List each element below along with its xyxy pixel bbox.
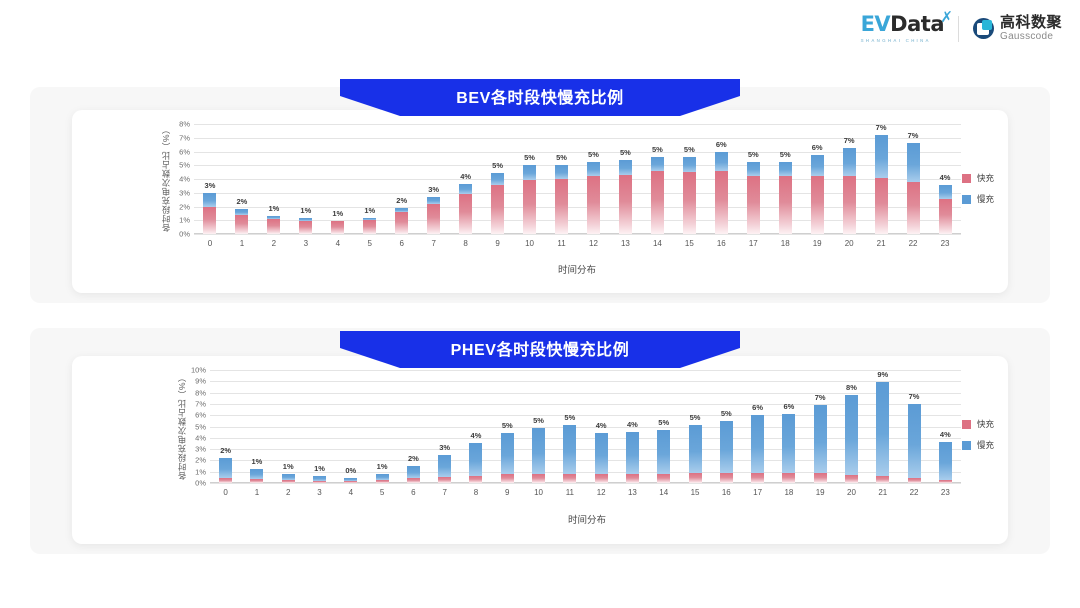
bar-segment-fast-charge[interactable] xyxy=(532,474,545,483)
bar-segment-slow-charge[interactable] xyxy=(747,162,760,176)
y-axis-tick-label: 4% xyxy=(195,433,206,442)
bar-segment-slow-charge[interactable] xyxy=(555,165,568,179)
bar-segment-fast-charge[interactable] xyxy=(587,176,600,234)
bar-value-label: 2% xyxy=(408,454,419,463)
bar-stack[interactable] xyxy=(907,124,920,234)
x-axis-tick-label: 15 xyxy=(691,488,700,497)
bar-segment-fast-charge[interactable] xyxy=(939,480,952,483)
bar-stack[interactable] xyxy=(235,124,248,234)
header-logos: EVData ✗ SHANGHAI CHINA 高科数聚 Gausscode xyxy=(861,14,1062,43)
bar-value-label: 5% xyxy=(524,153,535,162)
bar-segment-fast-charge[interactable] xyxy=(683,172,696,234)
y-axis-tick-label: 2% xyxy=(195,456,206,465)
chart-bev: 各时段充电次数占比（%）0%1%2%3%4%5%6%7%8%3%02%11%21… xyxy=(72,110,1008,293)
bar-segment-fast-charge[interactable] xyxy=(395,212,408,234)
x-axis-tick-label: 0 xyxy=(223,488,227,497)
x-axis-tick-label: 21 xyxy=(877,239,886,248)
y-axis-tick-label: 3% xyxy=(179,188,190,197)
bar-segment-fast-charge[interactable] xyxy=(282,480,295,483)
x-axis-tick-label: 7 xyxy=(442,488,446,497)
bar-value-label: 6% xyxy=(752,403,763,412)
bar-stack[interactable] xyxy=(875,124,888,234)
bar-value-label: 3% xyxy=(428,185,439,194)
x-axis-tick-label: 23 xyxy=(941,488,950,497)
legend-item-slow-charge[interactable]: 慢充 xyxy=(962,193,994,205)
bar-segment-slow-charge[interactable] xyxy=(619,160,632,174)
bar-value-label: 1% xyxy=(332,209,343,218)
bar-value-label: 5% xyxy=(492,161,503,170)
bar-segment-fast-charge[interactable] xyxy=(267,219,280,234)
bar-segment-fast-charge[interactable] xyxy=(555,179,568,234)
plot-area: 0%1%2%3%4%5%6%7%8%3%02%11%21%31%41%52%63… xyxy=(194,124,961,234)
y-axis-title: 各时段充电次数占比（%） xyxy=(176,368,188,484)
legend-item-fast-charge[interactable]: 快充 xyxy=(962,172,994,184)
bar-segment-fast-charge[interactable] xyxy=(657,474,670,483)
bar-segment-slow-charge[interactable] xyxy=(595,433,608,474)
x-axis-tick-label: 19 xyxy=(816,488,825,497)
evdata-x-icon: ✗ xyxy=(940,10,953,25)
x-axis-tick-label: 17 xyxy=(749,239,758,248)
bar-value-label: 4% xyxy=(596,421,607,430)
legend-label: 快充 xyxy=(977,418,994,430)
bar-segment-slow-charge[interactable] xyxy=(683,157,696,172)
bar-value-label: 2% xyxy=(237,197,248,206)
chart-title-banner-bev: BEV各时段快慢充比例 xyxy=(340,79,740,116)
bar-segment-slow-charge[interactable] xyxy=(875,135,888,178)
bar-segment-slow-charge[interactable] xyxy=(203,193,216,207)
bar-segment-slow-charge[interactable] xyxy=(720,421,733,473)
panel-bev: 各时段充电次数占比（%）0%1%2%3%4%5%6%7%8%3%02%11%21… xyxy=(30,87,1050,303)
bar-stack[interactable] xyxy=(407,370,420,483)
bar-stack[interactable] xyxy=(683,124,696,234)
bar-segment-slow-charge[interactable] xyxy=(501,433,514,474)
bar-segment-fast-charge[interactable] xyxy=(491,185,504,234)
bar-segment-fast-charge[interactable] xyxy=(689,473,702,483)
bar-value-label: 7% xyxy=(844,136,855,145)
bar-stack[interactable] xyxy=(876,370,889,483)
bar-segment-fast-charge[interactable] xyxy=(843,176,856,234)
bar-value-label: 5% xyxy=(620,148,631,157)
bar-stack[interactable] xyxy=(438,370,451,483)
bar-stack[interactable] xyxy=(219,370,232,483)
bar-segment-slow-charge[interactable] xyxy=(907,143,920,182)
bar-value-label: 3% xyxy=(205,181,216,190)
bar-value-label: 6% xyxy=(812,143,823,152)
bar-stack[interactable] xyxy=(427,124,440,234)
bar-value-label: 7% xyxy=(815,393,826,402)
bar-value-label: 5% xyxy=(652,145,663,154)
bar-segment-fast-charge[interactable] xyxy=(250,479,263,483)
x-axis-tick-label: 22 xyxy=(910,488,919,497)
chart-legend: 快充慢充 xyxy=(962,172,994,205)
bar-stack[interactable] xyxy=(203,124,216,234)
bar-value-label: 6% xyxy=(783,402,794,411)
legend-item-fast-charge[interactable]: 快充 xyxy=(962,418,994,430)
x-axis-tick-label: 13 xyxy=(628,488,637,497)
y-axis-tick-label: 10% xyxy=(191,366,206,375)
y-axis-tick-label: 7% xyxy=(179,133,190,142)
gausscode-name-en: Gausscode xyxy=(1000,32,1062,42)
bar-value-label: 5% xyxy=(690,413,701,422)
y-axis-tick-label: 5% xyxy=(195,422,206,431)
bar-value-label: 3% xyxy=(439,443,450,452)
bar-segment-slow-charge[interactable] xyxy=(459,184,472,194)
bar-segment-slow-charge[interactable] xyxy=(626,432,639,474)
bar-segment-fast-charge[interactable] xyxy=(427,204,440,234)
bar-value-label: 1% xyxy=(300,206,311,215)
bar-segment-fast-charge[interactable] xyxy=(779,176,792,234)
bar-segment-fast-charge[interactable] xyxy=(747,176,760,234)
y-axis-tick-label: 1% xyxy=(195,467,206,476)
bar-value-label: 5% xyxy=(780,150,791,159)
plot-area: 0%1%2%3%4%5%6%7%8%9%10%2%01%11%21%30%41%… xyxy=(210,370,961,483)
bar-stack[interactable] xyxy=(689,370,702,483)
bar-segment-fast-charge[interactable] xyxy=(331,221,344,234)
evdata-logo-ev: EV xyxy=(861,12,891,36)
evdata-logo: EVData ✗ SHANGHAI CHINA xyxy=(861,14,944,43)
x-axis-tick-label: 9 xyxy=(505,488,509,497)
bar-segment-slow-charge[interactable] xyxy=(811,155,824,176)
bar-stack[interactable] xyxy=(747,124,760,234)
bar-segment-fast-charge[interactable] xyxy=(563,474,576,483)
x-axis-tick-label: 19 xyxy=(813,239,822,248)
bar-value-label: 1% xyxy=(364,206,375,215)
chart-card-phev: 各时段充电次数占比（%）0%1%2%3%4%5%6%7%8%9%10%2%01%… xyxy=(72,356,1008,544)
legend-label: 慢充 xyxy=(977,439,994,451)
bar-segment-slow-charge[interactable] xyxy=(814,405,827,473)
bar-value-label: 5% xyxy=(502,421,513,430)
bar-segment-slow-charge[interactable] xyxy=(845,395,858,475)
y-axis-tick-label: 9% xyxy=(195,377,206,386)
x-axis-tick-label: 7 xyxy=(431,239,435,248)
x-axis-tick-label: 8 xyxy=(474,488,478,497)
bar-segment-fast-charge[interactable] xyxy=(619,175,632,234)
bar-segment-slow-charge[interactable] xyxy=(427,197,440,205)
bar-value-label: 0% xyxy=(345,466,356,475)
y-axis-tick-label: 2% xyxy=(179,202,190,211)
bar-segment-slow-charge[interactable] xyxy=(563,425,576,473)
x-axis-tick-label: 13 xyxy=(621,239,630,248)
bar-stack[interactable] xyxy=(469,370,482,483)
bar-stack[interactable] xyxy=(532,370,545,483)
x-axis-tick-label: 2 xyxy=(286,488,290,497)
bar-segment-slow-charge[interactable] xyxy=(939,185,952,199)
x-axis-tick-label: 12 xyxy=(589,239,598,248)
bar-segment-slow-charge[interactable] xyxy=(876,382,889,476)
gausscode-mark-icon xyxy=(973,18,994,39)
bar-stack[interactable] xyxy=(491,124,504,234)
bar-segment-fast-charge[interactable] xyxy=(376,480,389,483)
bar-stack[interactable] xyxy=(619,124,632,234)
bar-segment-slow-charge[interactable] xyxy=(491,173,504,185)
bar-segment-slow-charge[interactable] xyxy=(407,466,420,478)
bar-value-label: 9% xyxy=(877,370,888,379)
bar-segment-slow-charge[interactable] xyxy=(751,415,764,473)
legend-swatch-icon xyxy=(962,195,971,204)
bar-value-label: 2% xyxy=(220,446,231,455)
bar-value-label: 4% xyxy=(627,420,638,429)
evdata-logo-subtitle: SHANGHAI CHINA xyxy=(861,38,931,43)
bar-stack[interactable] xyxy=(811,124,824,234)
x-axis-tick-label: 2 xyxy=(272,239,276,248)
bar-value-label: 4% xyxy=(471,431,482,440)
x-axis-tick-label: 4 xyxy=(336,239,340,248)
bar-segment-fast-charge[interactable] xyxy=(523,180,536,234)
bar-segment-fast-charge[interactable] xyxy=(751,473,764,483)
bar-value-label: 5% xyxy=(588,150,599,159)
gausscode-name-cn: 高科数聚 xyxy=(1000,15,1062,30)
bar-value-label: 5% xyxy=(684,145,695,154)
y-axis-tick-label: 5% xyxy=(179,161,190,170)
bar-segment-slow-charge[interactable] xyxy=(843,148,856,176)
x-axis-tick-label: 1 xyxy=(240,239,244,248)
bar-stack[interactable] xyxy=(523,124,536,234)
x-axis-tick-label: 9 xyxy=(495,239,499,248)
bar-segment-fast-charge[interactable] xyxy=(407,478,420,483)
bar-stack[interactable] xyxy=(363,124,376,234)
gridline xyxy=(210,483,961,484)
bar-value-label: 1% xyxy=(314,464,325,473)
bar-segment-fast-charge[interactable] xyxy=(908,478,921,483)
gridline xyxy=(194,234,961,235)
x-axis-tick-label: 20 xyxy=(847,488,856,497)
bar-segment-fast-charge[interactable] xyxy=(459,194,472,234)
y-axis-tick-label: 1% xyxy=(179,216,190,225)
chart-title-banner-phev: PHEV各时段快慢充比例 xyxy=(340,331,740,368)
bar-segment-slow-charge[interactable] xyxy=(438,455,451,477)
bar-segment-fast-charge[interactable] xyxy=(438,477,451,483)
bar-segment-slow-charge[interactable] xyxy=(782,414,795,473)
bar-value-label: 1% xyxy=(268,204,279,213)
bar-segment-slow-charge[interactable] xyxy=(657,430,670,474)
x-axis-tick-label: 10 xyxy=(525,239,534,248)
legend-swatch-icon xyxy=(962,420,971,429)
bar-value-label: 5% xyxy=(748,150,759,159)
x-axis-tick-label: 16 xyxy=(717,239,726,248)
bar-stack[interactable] xyxy=(563,370,576,483)
x-axis-tick-label: 3 xyxy=(304,239,308,248)
bar-segment-fast-charge[interactable] xyxy=(344,481,357,483)
slide-page: EVData ✗ SHANGHAI CHINA 高科数聚 Gausscode 各… xyxy=(0,0,1080,608)
bar-segment-fast-charge[interactable] xyxy=(939,199,952,234)
bar-segment-fast-charge[interactable] xyxy=(715,171,728,234)
bar-segment-slow-charge[interactable] xyxy=(779,162,792,176)
x-axis-tick-label: 18 xyxy=(781,239,790,248)
x-axis-tick-label: 21 xyxy=(878,488,887,497)
bar-segment-fast-charge[interactable] xyxy=(845,475,858,483)
bar-segment-fast-charge[interactable] xyxy=(811,176,824,234)
bar-stack[interactable] xyxy=(555,124,568,234)
x-axis-tick-label: 11 xyxy=(566,488,574,497)
x-axis-tick-label: 22 xyxy=(909,239,918,248)
x-axis-tick-label: 15 xyxy=(685,239,694,248)
chart-phev: 各时段充电次数占比（%）0%1%2%3%4%5%6%7%8%9%10%2%01%… xyxy=(72,356,1008,544)
x-axis-tick-label: 12 xyxy=(597,488,606,497)
bar-value-label: 1% xyxy=(377,462,388,471)
bar-stack[interactable] xyxy=(267,124,280,234)
bar-stack[interactable] xyxy=(651,124,664,234)
bar-stack[interactable] xyxy=(814,370,827,483)
bar-segment-slow-charge[interactable] xyxy=(939,442,952,480)
bar-segment-fast-charge[interactable] xyxy=(875,178,888,234)
bar-stack[interactable] xyxy=(908,370,921,483)
bar-value-label: 8% xyxy=(846,383,857,392)
bar-segment-slow-charge[interactable] xyxy=(587,162,600,176)
gausscode-text: 高科数聚 Gausscode xyxy=(1000,15,1062,42)
bar-segment-slow-charge[interactable] xyxy=(651,157,664,171)
x-axis-tick-label: 14 xyxy=(659,488,668,497)
bar-stack[interactable] xyxy=(939,370,952,483)
x-axis-tick-label: 10 xyxy=(534,488,543,497)
bar-segment-slow-charge[interactable] xyxy=(532,428,545,474)
bar-segment-slow-charge[interactable] xyxy=(250,469,263,479)
bar-segment-fast-charge[interactable] xyxy=(469,476,482,483)
bar-value-label: 5% xyxy=(721,409,732,418)
bar-segment-slow-charge[interactable] xyxy=(219,458,232,478)
bar-value-label: 7% xyxy=(909,392,920,401)
chart-title-bev: BEV各时段快慢充比例 xyxy=(456,84,624,108)
bar-segment-fast-charge[interactable] xyxy=(651,171,664,234)
bar-stack[interactable] xyxy=(779,124,792,234)
legend-item-slow-charge[interactable]: 慢充 xyxy=(962,439,994,451)
x-axis-tick-label: 17 xyxy=(753,488,762,497)
bar-stack[interactable] xyxy=(395,124,408,234)
y-axis-tick-label: 6% xyxy=(179,147,190,156)
y-axis-tick-label: 0% xyxy=(195,479,206,488)
evdata-logo-data: Data xyxy=(890,12,944,36)
x-axis-tick-label: 5 xyxy=(380,488,384,497)
x-axis-title: 时间分布 xyxy=(558,262,596,276)
legend-swatch-icon xyxy=(962,174,971,183)
chart-title-phev: PHEV各时段快慢充比例 xyxy=(451,336,630,360)
y-axis-tick-label: 6% xyxy=(195,411,206,420)
x-axis-tick-label: 11 xyxy=(557,239,565,248)
x-axis-tick-label: 0 xyxy=(208,239,212,248)
x-axis-tick-label: 4 xyxy=(349,488,353,497)
y-axis-tick-label: 8% xyxy=(195,388,206,397)
x-axis-tick-label: 23 xyxy=(941,239,950,248)
bar-value-label: 5% xyxy=(533,416,544,425)
chart-card-bev: 各时段充电次数占比（%）0%1%2%3%4%5%6%7%8%3%02%11%21… xyxy=(72,110,1008,293)
bar-value-label: 1% xyxy=(283,462,294,471)
bar-stack[interactable] xyxy=(720,370,733,483)
bar-segment-fast-charge[interactable] xyxy=(219,478,232,483)
bar-value-label: 1% xyxy=(252,457,263,466)
bar-value-label: 7% xyxy=(876,123,887,132)
x-axis-tick-label: 14 xyxy=(653,239,662,248)
y-axis-tick-label: 7% xyxy=(195,399,206,408)
legend-label: 慢充 xyxy=(977,193,994,205)
bar-value-label: 4% xyxy=(940,430,951,439)
evdata-logo-wordmark: EVData xyxy=(861,14,944,35)
bar-value-label: 6% xyxy=(716,140,727,149)
bar-segment-fast-charge[interactable] xyxy=(720,473,733,483)
legend-label: 快充 xyxy=(977,172,994,184)
bar-segment-fast-charge[interactable] xyxy=(203,207,216,234)
x-axis-tick-label: 20 xyxy=(845,239,854,248)
x-axis-title: 时间分布 xyxy=(568,512,606,526)
bar-segment-fast-charge[interactable] xyxy=(595,474,608,483)
bar-segment-slow-charge[interactable] xyxy=(523,165,536,179)
bar-segment-fast-charge[interactable] xyxy=(782,473,795,483)
bar-segment-fast-charge[interactable] xyxy=(501,474,514,483)
bar-segment-fast-charge[interactable] xyxy=(313,481,326,483)
x-axis-tick-label: 5 xyxy=(368,239,372,248)
bar-segment-slow-charge[interactable] xyxy=(715,152,728,171)
bar-value-label: 4% xyxy=(940,173,951,182)
x-axis-tick-label: 3 xyxy=(317,488,321,497)
x-axis-tick-label: 18 xyxy=(784,488,793,497)
y-axis-tick-label: 3% xyxy=(195,445,206,454)
bar-stack[interactable] xyxy=(782,370,795,483)
bar-stack[interactable] xyxy=(751,370,764,483)
legend-swatch-icon xyxy=(962,441,971,450)
x-axis-tick-label: 8 xyxy=(463,239,467,248)
y-axis-title: 各时段充电次数占比（%） xyxy=(160,122,172,234)
bar-value-label: 2% xyxy=(396,196,407,205)
bar-segment-slow-charge[interactable] xyxy=(908,404,921,478)
bar-segment-slow-charge[interactable] xyxy=(469,443,482,475)
gausscode-logo: 高科数聚 Gausscode xyxy=(973,15,1062,42)
x-axis-tick-label: 6 xyxy=(399,239,403,248)
bar-stack[interactable] xyxy=(299,124,312,234)
bar-segment-fast-charge[interactable] xyxy=(626,474,639,483)
bar-segment-fast-charge[interactable] xyxy=(363,220,376,234)
bar-segment-fast-charge[interactable] xyxy=(876,476,889,483)
bar-value-label: 4% xyxy=(460,172,471,181)
x-axis-tick-label: 1 xyxy=(255,488,259,497)
bar-segment-fast-charge[interactable] xyxy=(299,221,312,234)
y-axis-tick-label: 4% xyxy=(179,175,190,184)
x-axis-tick-label: 6 xyxy=(411,488,415,497)
bar-value-label: 7% xyxy=(908,131,919,140)
logo-divider xyxy=(958,16,959,42)
y-axis-tick-label: 8% xyxy=(179,120,190,129)
bar-segment-fast-charge[interactable] xyxy=(814,473,827,483)
bar-segment-fast-charge[interactable] xyxy=(235,215,248,234)
y-axis-tick-label: 0% xyxy=(179,230,190,239)
bar-segment-fast-charge[interactable] xyxy=(907,182,920,234)
chart-legend: 快充慢充 xyxy=(962,418,994,451)
bar-value-label: 5% xyxy=(564,413,575,422)
bar-value-label: 5% xyxy=(658,418,669,427)
bar-segment-slow-charge[interactable] xyxy=(689,425,702,472)
x-axis-tick-label: 16 xyxy=(722,488,731,497)
bar-stack[interactable] xyxy=(587,124,600,234)
bar-value-label: 5% xyxy=(556,153,567,162)
